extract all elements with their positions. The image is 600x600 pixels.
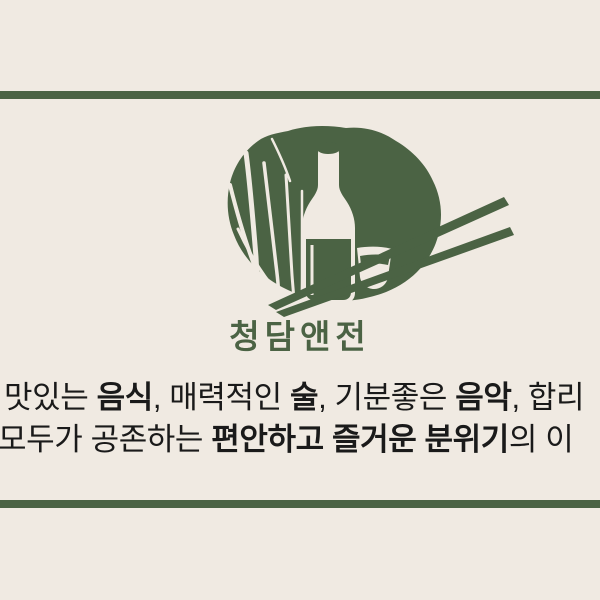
tagline-text: 모두가 공존하는	[0, 422, 211, 457]
tagline-line-1: 맛있는 음식, 매력적인 술, 기분좋은 음악, 합리	[4, 378, 584, 418]
tagline-text: , 합리	[511, 380, 584, 415]
tagline-emphasis: 음식	[97, 380, 153, 415]
tagline-block: 맛있는 음식, 매력적인 술, 기분좋은 음악, 합리 모두가 공존하는 편안하…	[0, 376, 600, 486]
tagline-text: 맛있는	[4, 380, 97, 415]
tagline-emphasis: 술	[290, 380, 318, 415]
brand-logo-block: 청담앤전	[0, 125, 600, 370]
tagline-emphasis: 음악	[455, 380, 511, 415]
top-divider-rule	[0, 91, 600, 99]
soju-bottle-cup-chopsticks-circle-logo-icon	[168, 125, 518, 320]
promo-banner: 청담앤전 맛있는 음식, 매력적인 술, 기분좋은 음악, 합리 모두가 공존하…	[0, 0, 600, 600]
tagline-line-2: 모두가 공존하는 편안하고 즐거운 분위기의 이	[0, 420, 573, 460]
tagline-text: 의 이	[509, 422, 573, 457]
bottom-divider-rule	[0, 500, 600, 508]
tagline-text: , 기분좋은	[318, 380, 455, 415]
tagline-emphasis: 편안하고 즐거운 분위기	[211, 422, 509, 457]
tagline-text: , 매력적인	[153, 380, 290, 415]
brand-wordmark: 청담앤전	[0, 315, 600, 359]
